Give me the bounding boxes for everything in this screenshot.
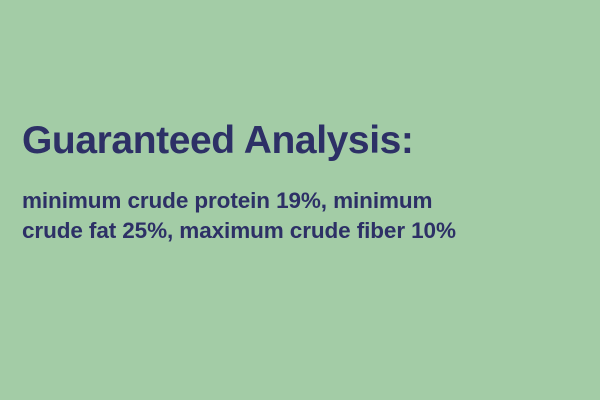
page-title: Guaranteed Analysis: [22,118,582,164]
analysis-line: minimum crude protein 19%, minimum [22,186,582,216]
analysis-line: crude fat 25%, maximum crude fiber 10% [22,216,582,246]
guaranteed-analysis-card: Guaranteed Analysis: minimum crude prote… [0,0,600,400]
text-block: Guaranteed Analysis: minimum crude prote… [22,118,582,246]
analysis-text: minimum crude protein 19%, minimum crude… [22,186,582,246]
